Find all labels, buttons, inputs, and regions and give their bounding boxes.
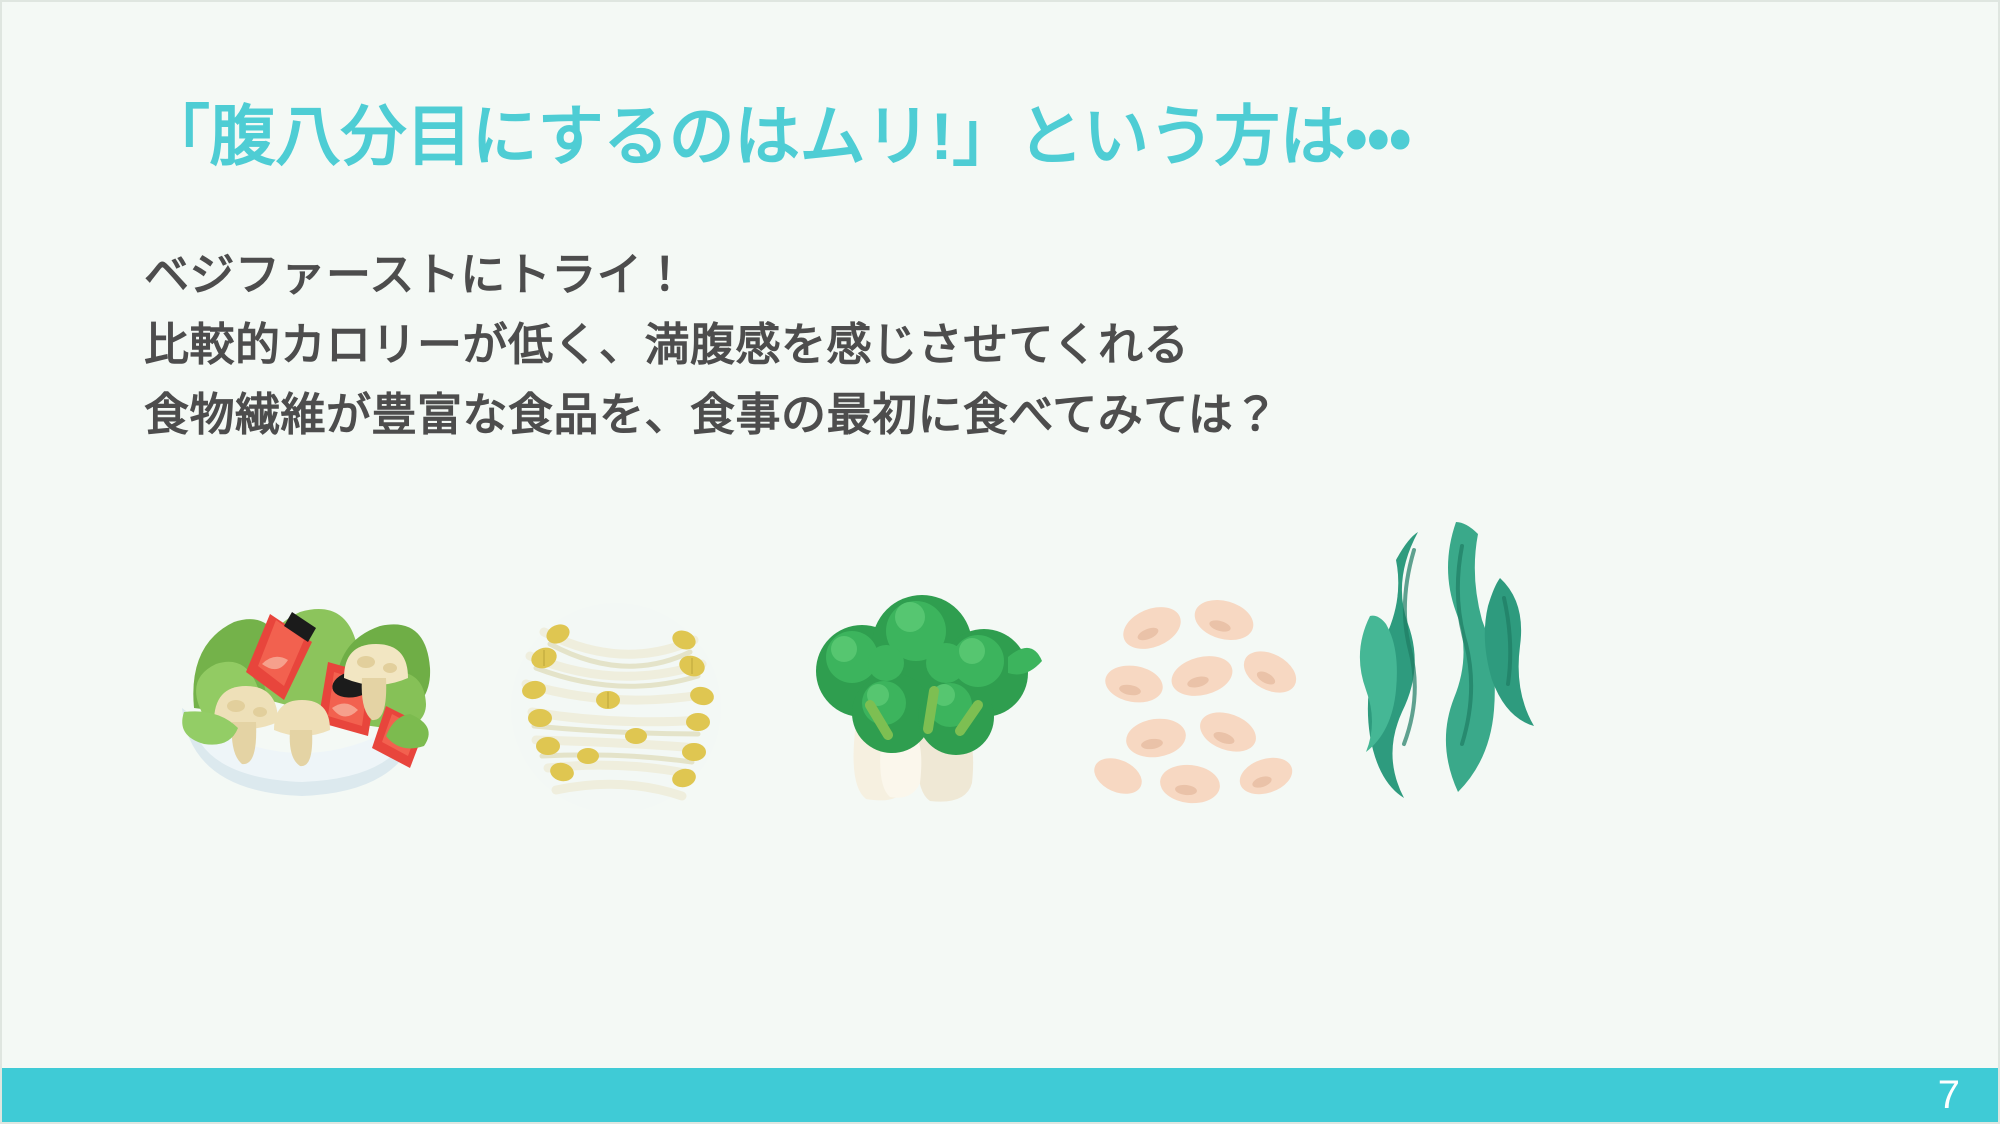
broccoli-illustration [770, 545, 1060, 810]
body-line-2: 比較的カロリーが低く、満腹感を感じさせてくれる [144, 310, 1279, 380]
food-illustration-row [142, 530, 1342, 810]
page-number: 7 [1938, 1070, 1960, 1120]
slide-title: 「腹八分目にするのはムリ!」という方は・・・ [144, 100, 1411, 174]
body-line-1: ベジファーストにトライ！ [144, 240, 1279, 310]
slide-body-text: ベジファーストにトライ！ 比較的カロリーが低く、満腹感を感じさせてくれる 食物繊… [144, 240, 1279, 450]
body-line-3: 食物繊維が豊富な食品を、食事の最初に食べてみては？ [144, 380, 1279, 450]
footer-bar [2, 1068, 1998, 1122]
seaweed-illustration [1348, 520, 1548, 810]
presentation-slide: 「腹八分目にするのはムリ!」という方は・・・ ベジファーストにトライ！ 比較的カ… [0, 0, 2000, 1124]
bean-sprouts-illustration [496, 560, 736, 810]
beans-illustration [1094, 580, 1314, 810]
salad-bowl-illustration [142, 540, 462, 810]
